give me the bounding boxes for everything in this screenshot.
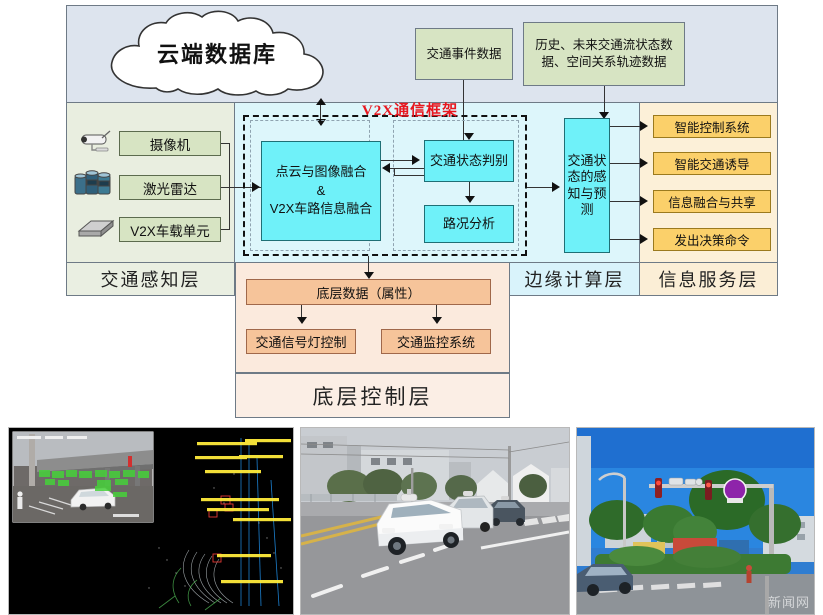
arrow-fusion-to-state [412, 155, 420, 165]
arrow-state-to-fusion [382, 163, 390, 173]
info-layer-title: 信息服务层 [640, 263, 778, 296]
fusion-line-2: & [317, 182, 326, 201]
lidar-point-cloud-photo [8, 427, 294, 615]
connector-perception-s3 [610, 201, 643, 202]
camera-icon [76, 126, 116, 156]
traffic-signal-control-box: 交通信号灯控制 [246, 329, 356, 354]
connector-state-to-fusion [394, 175, 424, 176]
arrow-state-to-road [465, 196, 475, 203]
traffic-state-perception-prediction-box: 交通状态的感知与预测 [564, 118, 610, 253]
traffic-state-discrimination-box: 交通状态判别 [424, 140, 514, 182]
arrow-base-to-monitor [432, 317, 442, 324]
connector-hist-down [604, 86, 605, 114]
information-fusion-sharing-box: 信息融合与共享 [653, 190, 771, 213]
connector-v2x-to-perception [527, 187, 555, 188]
connector-perception-s2 [610, 163, 643, 164]
arrow-perception-s4 [640, 234, 648, 244]
lidar-label-box: 激光雷达 [119, 175, 221, 200]
control-layer-title: 底层控制层 [235, 373, 510, 418]
arrow-up-to-cloud [316, 98, 326, 105]
obu-label-box: V2X车载单元 [119, 217, 221, 242]
edge-layer-label: 边缘计算层 [525, 266, 625, 292]
fusion-box: 点云与图像融合 & V2X车路信息融合 [261, 141, 381, 241]
watermark: 新闻网 [768, 592, 810, 611]
lidar-icon [73, 168, 117, 200]
cloud-database-label: 云端数据库 [98, 10, 336, 96]
arrow-edge-to-control [364, 272, 374, 279]
obu-icon [75, 213, 117, 243]
sensing-layer-label: 交通感知层 [101, 266, 201, 292]
connector-state-feedback-h [390, 168, 424, 169]
system-architecture-diagram: 交通感知层 边缘计算层 信息服务层 底层控制层 云端数据库 交通事件数据 历史、… [0, 0, 823, 425]
arrow-perception-s1 [640, 121, 648, 131]
traffic-event-data-box: 交通事件数据 [415, 28, 513, 80]
connector-perception-s1 [610, 126, 643, 127]
historical-future-traffic-data-box: 历史、未来交通流状态数据、空间关系轨迹数据 [523, 22, 685, 86]
traffic-monitoring-system-box: 交通监控系统 [381, 329, 491, 354]
sensing-layer-title: 交通感知层 [66, 263, 235, 296]
fusion-line-3: V2X车路信息融合 [270, 200, 373, 219]
roadside-unit-intersection-photo: 新闻网 [576, 427, 815, 615]
fusion-line-1: 点云与图像融合 [275, 163, 366, 182]
decision-command-box: 发出决策命令 [653, 228, 771, 251]
arrow-perception-s2 [640, 158, 648, 168]
connector-perception-s4 [610, 239, 643, 240]
arrow-perception-s3 [640, 196, 648, 206]
intelligent-control-system-box: 智能控制系统 [653, 115, 771, 138]
road-condition-analysis-box: 路况分析 [424, 205, 514, 243]
intelligent-traffic-guidance-box: 智能交通诱导 [653, 152, 771, 175]
photo-strip: 新闻网 [0, 427, 823, 615]
camera-label-box: 摄像机 [119, 131, 221, 156]
base-data-attribute-box: 底层数据（属性） [246, 279, 491, 305]
v2x-framework-label: V2X通信框架 [330, 99, 490, 119]
edge-layer-title: 边缘计算层 [510, 263, 640, 296]
connector-fusion-to-state [381, 160, 416, 161]
control-layer-label: 底层控制层 [313, 381, 433, 411]
arrow-v2x-to-perception [552, 182, 560, 192]
test-vehicles-road-photo [300, 427, 570, 615]
info-layer-label: 信息服务层 [659, 266, 759, 292]
arrow-base-to-signal [297, 317, 307, 324]
